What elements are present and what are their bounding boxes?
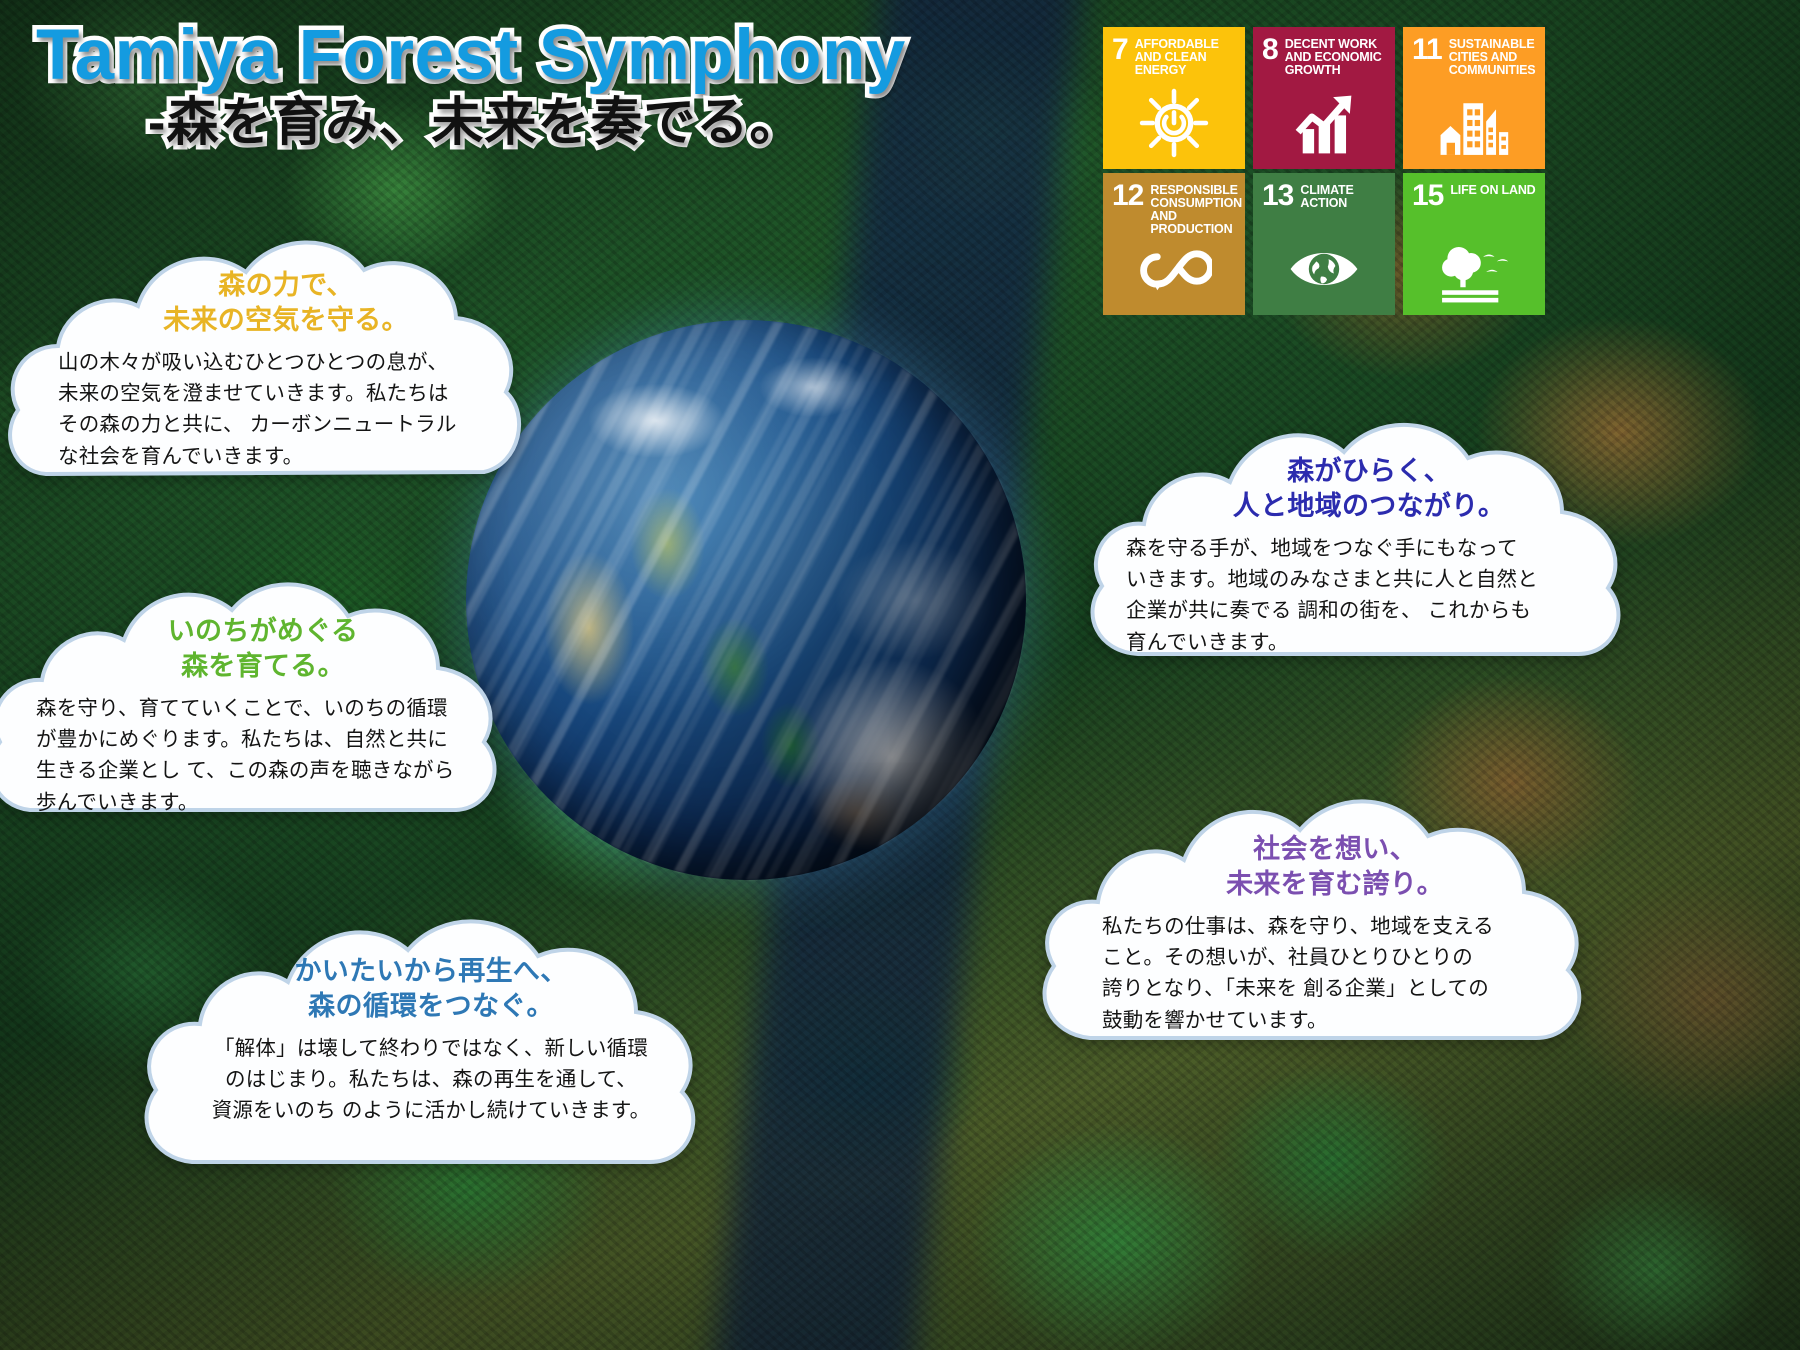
cloud-heading-pride: 社会を想い、 未来を育む誇り。 [1102, 832, 1568, 901]
sdg-number-7: 7 [1112, 37, 1128, 63]
cloud-card-life: いのちがめぐる 森を育てる。 森を守り、育てていくことで、いのちの循環 が豊かに… [0, 556, 542, 848]
sdg-tile-11[interactable]: 11 SUSTAINABLE CITIES AND COMMUNITIES [1403, 27, 1545, 169]
cloud-content-cycle: かいたいから再生へ、 森の循環をつなぐ。 「解体」は壊して終わりではなく、新しい… [130, 890, 730, 1127]
cloud-text-connect: 森を守る手が、地域をつなぐ手にもなって いきます。地域のみなさまと共に人と自然と… [1126, 533, 1612, 658]
sdg-header-15: 15 LIFE ON LAND [1412, 183, 1536, 209]
sun-power-icon [1103, 85, 1245, 161]
sdg-tile-15[interactable]: 15 LIFE ON LAND [1403, 173, 1545, 315]
cloud-text-cycle: 「解体」は壊して終わりではなく、新しい循環 のはじまり。私たちは、森の再生を通し… [178, 1033, 684, 1126]
sdg-title-11: SUSTAINABLE CITIES AND COMMUNITIES [1449, 37, 1536, 77]
cloud-content-life: いのちがめぐる 森を育てる。 森を守り、育てていくことで、いのちの循環 が豊かに… [0, 556, 542, 818]
cloud-heading-cycle: かいたいから再生へ、 森の循環をつなぐ。 [178, 954, 684, 1023]
cloud-heading-connect: 森がひらく、 人と地域のつながり。 [1126, 454, 1612, 523]
cloud-text-life: 森を守り、育てていくことで、いのちの循環 が豊かにめぐります。私たちは、自然と共… [36, 693, 490, 818]
sdg-header-7: 7 AFFORDABLE AND CLEAN ENERGY [1112, 37, 1236, 77]
sdg-number-8: 8 [1262, 37, 1278, 63]
cloud-content-air: 森の力で、 未来の空気を守る。 山の木々が吸い込むひとつひとつの息が、 未来の空… [6, 214, 566, 472]
infinity-loop-icon [1103, 231, 1245, 307]
sdg-number-13: 13 [1262, 183, 1293, 209]
sdg-tile-13[interactable]: 13 CLIMATE ACTION [1253, 173, 1395, 315]
cloud-content-pride: 社会を想い、 未来を育む誇り。 私たちの仕事は、森を守り、地域を支える こと。そ… [1016, 770, 1616, 1036]
tree-birds-icon [1403, 231, 1545, 307]
eye-earth-icon [1253, 231, 1395, 307]
sdg-title-15: LIFE ON LAND [1450, 183, 1535, 197]
cloud-card-connect: 森がひらく、 人と地域のつながり。 森を守る手が、地域をつなぐ手にもなって いき… [1078, 398, 1658, 690]
city-buildings-icon [1403, 85, 1545, 161]
sdg-title-12: RESPONSIBLE CONSUMPTION AND PRODUCTION [1150, 183, 1242, 236]
sdg-header-13: 13 CLIMATE ACTION [1262, 183, 1386, 210]
sdg-number-15: 15 [1412, 183, 1443, 209]
sdg-tile-8[interactable]: 8 DECENT WORK AND ECONOMIC GROWTH [1253, 27, 1395, 169]
cloud-text-air: 山の木々が吸い込むひとつひとつの息が、 未来の空気を澄ませていきます。私たちは … [58, 347, 514, 472]
sdg-title-8: DECENT WORK AND ECONOMIC GROWTH [1285, 37, 1386, 77]
title-japanese: -森を育み、未来を奏でる。 [148, 95, 1066, 152]
sdg-tile-12[interactable]: 12 RESPONSIBLE CONSUMPTION AND PRODUCTIO… [1103, 173, 1245, 315]
poster-title-block: Tamiya Forest Symphony -森を育み、未来を奏でる。 [36, 18, 1066, 152]
cloud-card-air: 森の力で、 未来の空気を守る。 山の木々が吸い込むひとつひとつの息が、 未来の空… [6, 214, 566, 514]
cloud-card-cycle: かいたいから再生へ、 森の循環をつなぐ。 「解体」は壊して終わりではなく、新しい… [130, 890, 730, 1200]
cloud-content-connect: 森がひらく、 人と地域のつながり。 森を守る手が、地域をつなぐ手にもなって いき… [1078, 398, 1658, 658]
sdg-title-7: AFFORDABLE AND CLEAN ENERGY [1135, 37, 1236, 77]
sdg-title-13: CLIMATE ACTION [1300, 183, 1386, 210]
sdg-header-8: 8 DECENT WORK AND ECONOMIC GROWTH [1262, 37, 1386, 77]
cloud-card-pride: 社会を想い、 未来を育む誇り。 私たちの仕事は、森を守り、地域を支える こと。そ… [1016, 770, 1616, 1075]
sdg-number-11: 11 [1412, 37, 1442, 63]
poster-canvas: Tamiya Forest Symphony -森を育み、未来を奏でる。 7 A… [0, 0, 1800, 1350]
sdg-number-12: 12 [1112, 183, 1143, 209]
cloud-heading-life: いのちがめぐる 森を育てる。 [36, 614, 490, 683]
sdg-header-12: 12 RESPONSIBLE CONSUMPTION AND PRODUCTIO… [1112, 183, 1236, 236]
sdg-tile-7[interactable]: 7 AFFORDABLE AND CLEAN ENERGY [1103, 27, 1245, 169]
sdg-icon-grid: 7 AFFORDABLE AND CLEAN ENERGY [1103, 27, 1545, 315]
cloud-text-pride: 私たちの仕事は、森を守り、地域を支える こと。その想いが、社員ひとりひとりの 誇… [1102, 911, 1568, 1036]
title-english: Tamiya Forest Symphony [36, 18, 1066, 93]
cloud-heading-air: 森の力で、 未来の空気を守る。 [58, 268, 514, 337]
growth-chart-icon [1253, 85, 1395, 161]
sdg-header-11: 11 SUSTAINABLE CITIES AND COMMUNITIES [1412, 37, 1536, 77]
